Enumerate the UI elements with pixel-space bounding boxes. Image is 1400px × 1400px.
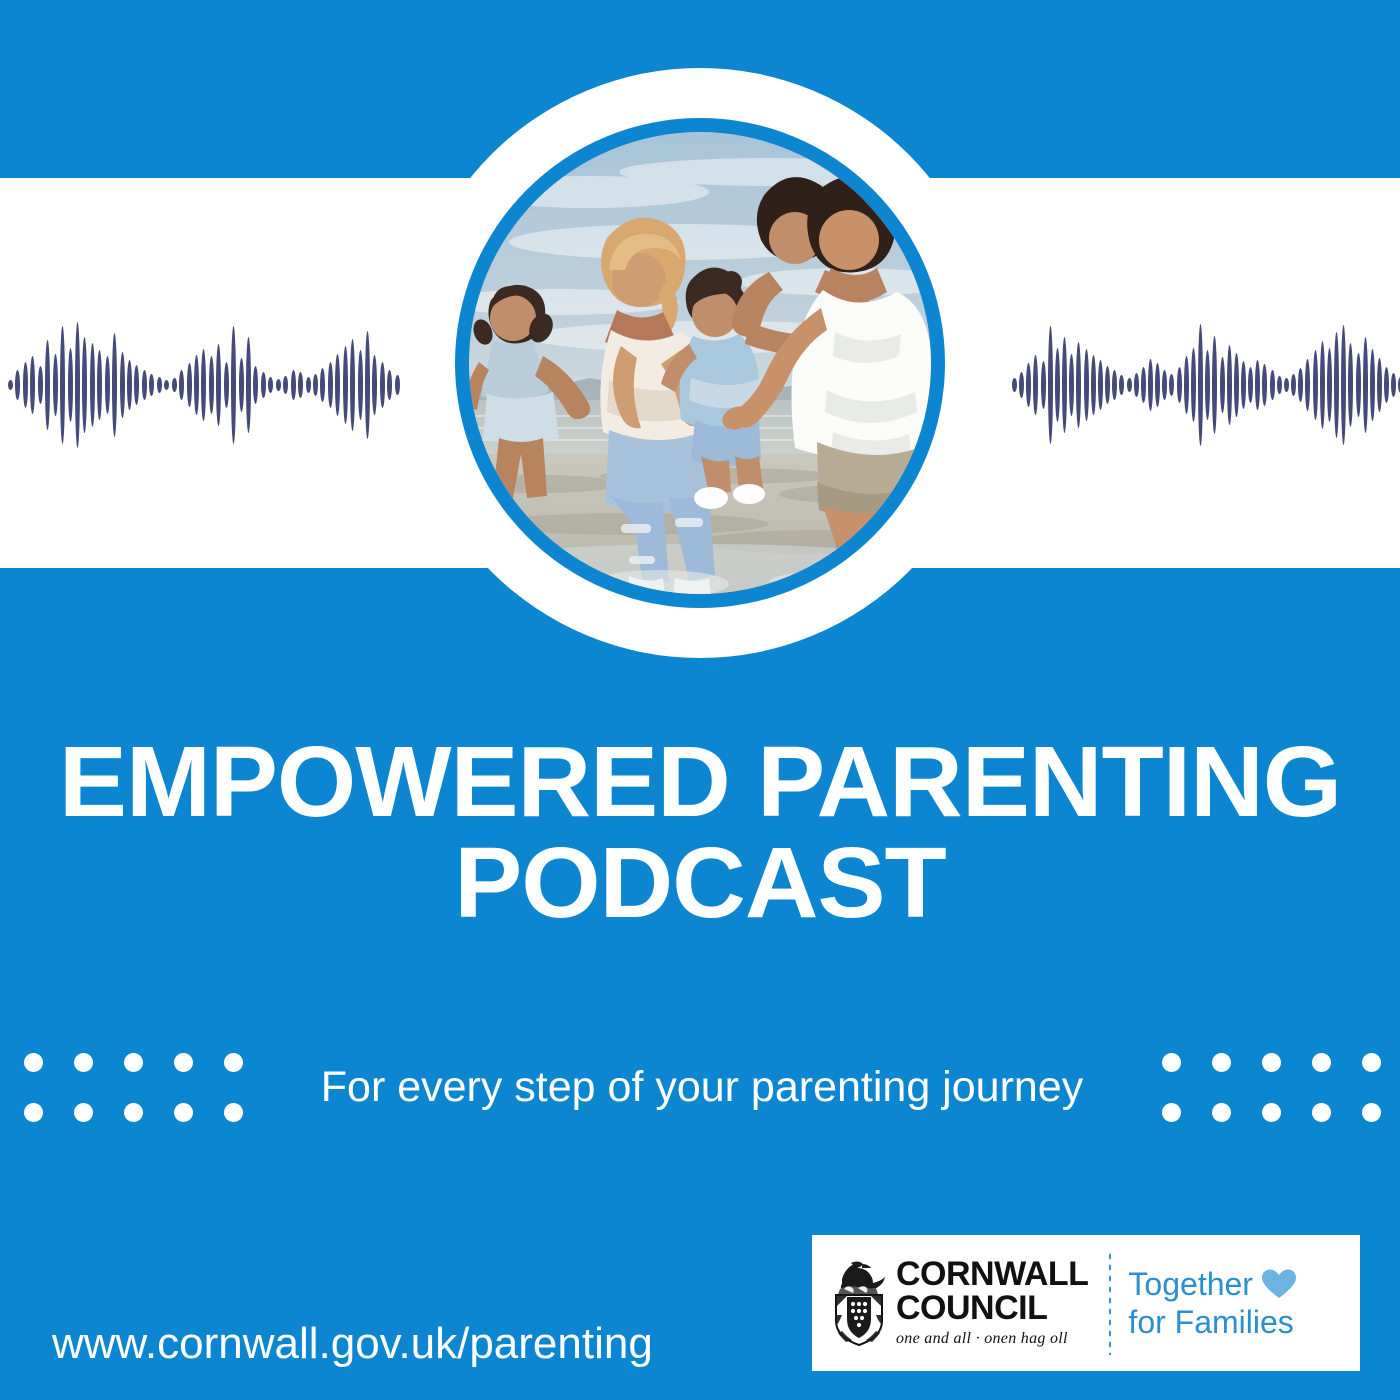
waveform-bar [142, 370, 147, 400]
grid-dot [1362, 1103, 1381, 1122]
waveform-bar [1062, 337, 1067, 433]
waveform-bar [291, 370, 296, 400]
waveform-bar [1198, 324, 1203, 446]
waveform-bar [1184, 356, 1189, 414]
grid-dot [1312, 1053, 1331, 1072]
waveform-bar [335, 354, 340, 416]
waveform-bar [1262, 364, 1267, 406]
waveform-bar [30, 356, 35, 414]
waveform-bar [53, 354, 58, 416]
waveform-bar [358, 350, 363, 420]
waveform-bar [1162, 370, 1167, 400]
waveform-bar [1377, 358, 1382, 412]
waveform-bar [45, 340, 50, 430]
council-motto: one and all · onen hag oll [896, 1329, 1088, 1349]
grid-dot [24, 1053, 43, 1072]
dot-grid-left [8, 1037, 258, 1137]
waveform-bar [1169, 374, 1174, 396]
waveform-bar [1069, 354, 1074, 416]
waveform-bar [1327, 348, 1332, 422]
waveform-bar [1320, 341, 1325, 429]
circle-badge-blue-ring [455, 118, 945, 608]
waveform-bar [187, 363, 192, 407]
waveform-bar [298, 372, 303, 398]
waveform-bar [194, 355, 199, 415]
waveform-bar [1177, 367, 1182, 403]
dotted-divider-icon [1108, 1251, 1112, 1355]
waveform-bar [1248, 367, 1253, 403]
circle-badge-outer-ring [405, 68, 995, 658]
grid-dot [74, 1103, 93, 1122]
grid-dot [1162, 1103, 1181, 1122]
waveform-bar [1084, 349, 1089, 421]
waveform-bar [1391, 373, 1396, 397]
waveform-bar [1098, 360, 1103, 410]
title-line-1: EMPOWERED PARENTING [0, 735, 1400, 830]
tagline-text: For every step of your parenting journey [258, 1062, 1146, 1112]
waveform-bar [1127, 378, 1132, 392]
waveform-bar [1384, 367, 1389, 403]
grid-dot [1362, 1053, 1381, 1072]
grid-dot [174, 1103, 193, 1122]
waveform-bar [268, 377, 273, 393]
grid-dot [1262, 1103, 1281, 1122]
waveform-bar [1141, 367, 1146, 403]
waveform-bar [372, 355, 377, 415]
waveform-bar [1041, 361, 1046, 409]
partner-line-2: for Families [1128, 1303, 1360, 1341]
waveform-bar [246, 337, 251, 433]
waveform-bar [1105, 366, 1110, 404]
waveform-bar [157, 377, 162, 393]
waveform-bar [179, 370, 184, 400]
grid-dot [24, 1103, 43, 1122]
waveform-bar [1112, 370, 1117, 400]
waveform-bar [134, 365, 139, 405]
waveform-bar [1313, 350, 1318, 420]
family-beach-photo [469, 132, 931, 594]
waveform-bar [201, 349, 206, 421]
waveform-bar [1191, 348, 1196, 422]
waveform-bar [8, 380, 13, 390]
waveform-bar [38, 366, 43, 404]
dot-grid-right [1146, 1037, 1396, 1137]
waveform-bar [1356, 353, 1361, 417]
waveform-bar [1255, 360, 1260, 410]
waveform-bar [149, 374, 154, 396]
podcast-cover-art: EMPOWERED PARENTING PODCAST For every st… [0, 0, 1400, 1400]
waveform-bar [1334, 332, 1339, 438]
waveform-bar [1076, 342, 1081, 428]
waveform-bar [1277, 376, 1282, 394]
waveform-bar [82, 337, 87, 433]
waveform-bar [1119, 375, 1124, 395]
waveform-bar [261, 372, 266, 398]
waveform-bar [1305, 359, 1310, 411]
waveform-bar [276, 379, 281, 391]
title-line-2: PODCAST [0, 836, 1400, 931]
waveform-bar [1341, 325, 1346, 445]
waveform-bar [1227, 345, 1232, 425]
waveform-bar [90, 343, 95, 427]
council-line-1: CORNWALL [896, 1257, 1088, 1291]
grid-dot [174, 1053, 193, 1072]
waveform-bar [112, 333, 117, 437]
waveform-bar [365, 331, 370, 439]
waveform-bar [1241, 361, 1246, 409]
waveform-bar [231, 326, 236, 444]
waveform-bar [105, 356, 110, 414]
grid-dot [124, 1103, 143, 1122]
waveform-bar [216, 344, 221, 426]
cornwall-council-logo: CORNWALL COUNCIL one and all · onen hag … [812, 1257, 1088, 1349]
waveform-bar [209, 356, 214, 414]
grid-dot [1312, 1103, 1331, 1122]
waveform-bar [1284, 378, 1289, 392]
waveform-bar [395, 375, 400, 395]
waveform-bar [1091, 355, 1096, 415]
grid-dot [1212, 1103, 1231, 1122]
waveform-bar [283, 376, 288, 394]
waveform-bar [1026, 363, 1031, 407]
waveform-bar [60, 326, 65, 444]
waveform-bar [1155, 363, 1160, 407]
waveform-bar [127, 360, 132, 410]
waveform-bar [387, 370, 392, 400]
waveform-bar [380, 362, 385, 408]
waveform-bar [23, 362, 28, 408]
waveform-bar [343, 346, 348, 424]
grid-dot [124, 1053, 143, 1072]
cornwall-council-wordmark: CORNWALL COUNCIL one and all · onen hag … [896, 1257, 1088, 1349]
waveform-bar [1348, 343, 1353, 427]
waveform-bar [75, 322, 80, 448]
waveform-bar [306, 377, 311, 393]
waveform-bar [239, 358, 244, 412]
cornwall-crest-chough-icon [830, 1259, 888, 1347]
waveform-bar [313, 374, 318, 396]
waveform-bar [97, 350, 102, 420]
waveform-bar [120, 352, 125, 418]
waveform-bar [1148, 359, 1153, 411]
waveform-bar [1234, 353, 1239, 417]
grid-dot [74, 1053, 93, 1072]
waveform-bar [320, 368, 325, 402]
waveform-bar [328, 362, 333, 408]
grid-dot [1212, 1053, 1231, 1072]
waveform-bar [1019, 372, 1024, 398]
grid-dot [1162, 1053, 1181, 1072]
waveform-bar [1291, 374, 1296, 396]
grid-dot [224, 1053, 243, 1072]
waveform-bar [172, 378, 177, 392]
council-line-2: COUNCIL [896, 1291, 1088, 1325]
audio-waveform-left [8, 300, 400, 470]
grid-dot [1262, 1053, 1281, 1072]
podcast-title: EMPOWERED PARENTING PODCAST [0, 735, 1400, 931]
waveform-bar [1134, 373, 1139, 397]
together-for-families-logo: Together for Families [1128, 1265, 1360, 1341]
waveform-bar [253, 366, 258, 404]
waveform-bar [1033, 355, 1038, 415]
tagline-row: For every step of your parenting journey [0, 1032, 1400, 1142]
logo-lockup: CORNWALL COUNCIL one and all · onen hag … [812, 1235, 1360, 1371]
waveform-bar [15, 370, 20, 400]
audio-waveform-right [1012, 300, 1400, 470]
waveform-bar [1220, 357, 1225, 413]
waveform-bar [350, 339, 355, 431]
waveform-bar [1370, 349, 1375, 421]
waveform-bar [1270, 370, 1275, 400]
partner-line-1: Together [1128, 1265, 1253, 1303]
waveform-bar [1212, 336, 1217, 434]
waveform-bar [1363, 337, 1368, 433]
waveform-bar [1205, 350, 1210, 420]
heart-icon [1261, 1268, 1297, 1300]
waveform-bar [1012, 378, 1017, 392]
grid-dot [224, 1103, 243, 1122]
waveform-bar [1055, 348, 1060, 422]
waveform-bar [68, 348, 73, 422]
waveform-bar [1048, 326, 1053, 444]
website-url[interactable]: www.cornwall.gov.uk/parenting [52, 1316, 653, 1372]
waveform-bar [164, 380, 169, 390]
waveform-bar [224, 362, 229, 408]
waveform-bar [1298, 368, 1303, 402]
